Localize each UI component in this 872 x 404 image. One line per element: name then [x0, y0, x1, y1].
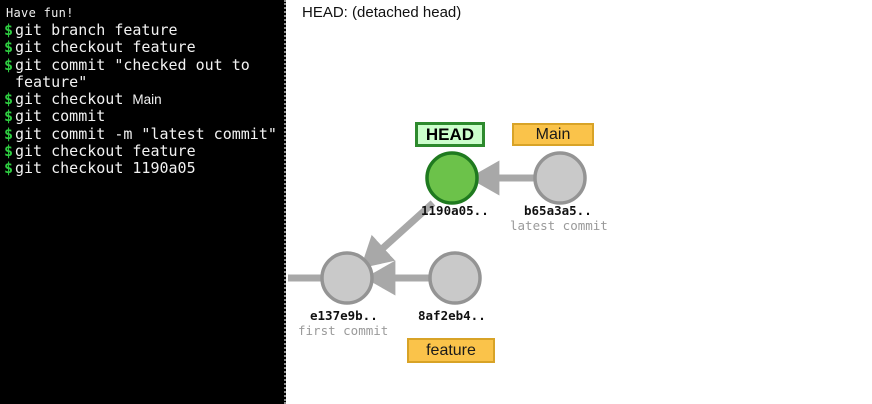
ref-badge-main[interactable]: Main	[512, 123, 594, 146]
terminal-prompt-symbol: $	[4, 22, 15, 39]
terminal-line: $git commit	[0, 108, 284, 125]
commit-message-e137e9b: first commit	[298, 323, 388, 338]
commit-hash-8af2eb4: 8af2eb4..	[418, 308, 486, 323]
terminal-prompt-symbol: $	[4, 57, 15, 74]
screenshot-root: Have fun! $git branch feature$git checko…	[0, 0, 872, 404]
terminal-command-text: git commit "checked out to feature"	[15, 57, 284, 92]
terminal-command-text: git branch feature	[15, 22, 284, 39]
terminal-line: $git checkout 1190a05	[0, 160, 284, 177]
commit-graph-panel: HEAD: (detached head) 1190a05.. b65	[288, 0, 872, 404]
commit-node-8af2eb4[interactable]	[430, 253, 480, 303]
terminal-prompt-symbol: $	[4, 126, 15, 143]
commit-hash-1190a05: 1190a05..	[421, 203, 489, 218]
commit-node-e137e9b[interactable]	[322, 253, 372, 303]
terminal-command-text: git checkout feature	[15, 39, 284, 56]
terminal-command-text: git commit -m "latest commit"	[15, 126, 284, 143]
ref-badge-feature[interactable]: feature	[407, 338, 495, 363]
commit-node-b65a3a5[interactable]	[535, 153, 585, 203]
commit-message-b65a3a5: latest commit	[510, 218, 608, 233]
terminal-prompt-symbol: $	[4, 39, 15, 56]
terminal-line: $git checkout Main	[0, 91, 284, 108]
terminal-prompt-symbol: $	[4, 143, 15, 160]
terminal-line: $git commit -m "latest commit"	[0, 126, 284, 143]
terminal-prompt-symbol: $	[4, 91, 15, 108]
commit-hash-e137e9b: e137e9b..	[310, 308, 378, 323]
terminal-banner: Have fun!	[0, 0, 284, 22]
commit-hash-b65a3a5: b65a3a5..	[524, 203, 592, 218]
terminal-command-text: git checkout Main	[15, 91, 284, 108]
terminal-command-list: $git branch feature$git checkout feature…	[0, 22, 284, 178]
terminal-prompt-symbol: $	[4, 108, 15, 125]
terminal-line: $git commit "checked out to feature"	[0, 57, 284, 92]
terminal-panel[interactable]: Have fun! $git branch feature$git checko…	[0, 0, 286, 404]
terminal-line: $git checkout feature	[0, 39, 284, 56]
terminal-prompt-symbol: $	[4, 160, 15, 177]
ref-badge-head[interactable]: HEAD	[415, 122, 485, 147]
terminal-line: $git checkout feature	[0, 143, 284, 160]
terminal-command-text: git commit	[15, 108, 284, 125]
terminal-command-text: git checkout 1190a05	[15, 160, 284, 177]
terminal-command-text: git checkout feature	[15, 143, 284, 160]
commit-node-1190a05[interactable]	[427, 153, 477, 203]
commit-graph-svg	[288, 0, 872, 404]
terminal-line: $git branch feature	[0, 22, 284, 39]
terminal-command-argument: Main	[132, 92, 161, 107]
